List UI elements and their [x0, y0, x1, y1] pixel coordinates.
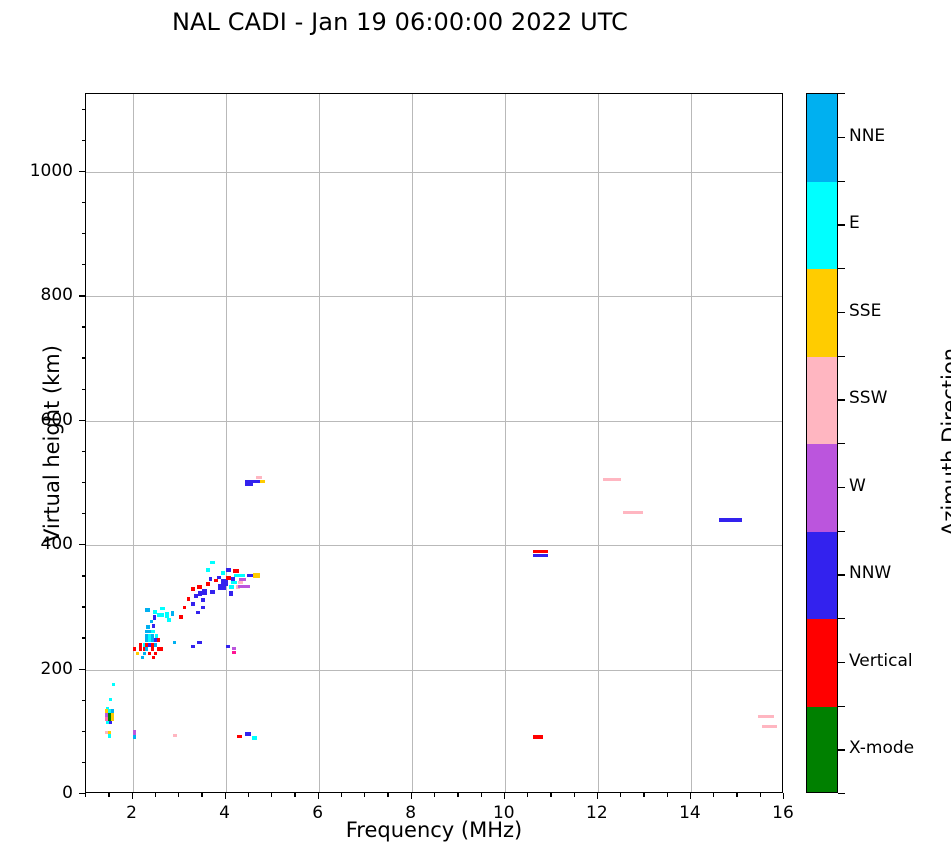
echo-mark [151, 630, 154, 634]
gridline-vertical [226, 94, 227, 792]
echo-mark [167, 618, 171, 622]
echo-mark [143, 652, 146, 656]
y-tick-label: 600 [13, 410, 73, 430]
echo-mark [150, 620, 153, 624]
x-tick-minor [457, 793, 458, 797]
echo-mark [233, 569, 239, 573]
colorbar-tick [838, 487, 845, 488]
echo-mark [157, 613, 164, 617]
y-tick-minor [82, 202, 86, 203]
echo-mark [253, 573, 260, 577]
x-tick-minor [201, 793, 202, 797]
x-tick-minor [620, 793, 621, 797]
echo-mark [260, 480, 265, 483]
gridline-vertical [412, 94, 413, 792]
gridline-horizontal [86, 670, 782, 671]
colorbar-title: Azimuth Direction [938, 282, 951, 602]
x-tick-minor [364, 793, 365, 797]
x-tick-label: 16 [753, 803, 813, 823]
gridline-vertical [319, 94, 320, 792]
y-tick-label: 1000 [13, 161, 73, 181]
x-tick-minor [271, 793, 272, 797]
x-tick-minor [481, 793, 482, 797]
x-tick-minor [736, 793, 737, 797]
echo-mark [238, 585, 250, 588]
colorbar-tick [838, 749, 845, 750]
echo-mark [209, 577, 212, 581]
colorbar-tick [838, 662, 845, 663]
y-tick-major [79, 171, 85, 172]
x-tick-minor [178, 793, 179, 797]
echo-mark [229, 585, 234, 589]
y-tick-label: 400 [13, 534, 73, 554]
echo-mark [109, 721, 112, 725]
y-tick-minor [82, 140, 86, 141]
echo-mark [152, 656, 155, 659]
echo-mark [231, 581, 237, 585]
colorbar-tick [838, 312, 845, 313]
y-tick-minor [82, 233, 86, 234]
echo-mark [202, 589, 208, 595]
plot-area[interactable] [85, 93, 783, 793]
y-tick-minor [82, 606, 86, 607]
echo-mark [533, 735, 543, 739]
colorbar-label-w: W [849, 476, 866, 496]
colorbar-label-vertical: Vertical [849, 651, 913, 671]
echo-mark [133, 647, 136, 651]
echo-mark [232, 647, 236, 650]
x-tick-major [132, 793, 133, 799]
figure-title: NAL CADI - Jan 19 06:00:00 2022 UTC [0, 8, 800, 36]
echo-mark [183, 606, 186, 609]
colorbar-boundary-tick [838, 181, 845, 182]
x-tick-minor [387, 793, 388, 797]
echo-mark [160, 607, 165, 611]
echo-mark [533, 550, 548, 553]
y-tick-major [79, 544, 85, 545]
y-tick-minor [82, 451, 86, 452]
y-tick-minor [82, 264, 86, 265]
echo-mark [108, 734, 111, 738]
y-tick-major [79, 420, 85, 421]
gridline-horizontal [86, 296, 782, 297]
colorbar-boundary-tick [838, 531, 845, 532]
y-tick-minor [82, 575, 86, 576]
echo-mark [201, 606, 205, 609]
echo-mark [245, 732, 251, 736]
x-tick-minor [550, 793, 551, 797]
echo-mark [226, 645, 230, 648]
colorbar-segment-nnw[interactable] [807, 532, 837, 620]
echo-mark [191, 587, 195, 591]
echo-mark [109, 698, 112, 702]
y-tick-minor [82, 731, 86, 732]
echo-mark [148, 652, 151, 656]
echo-mark [112, 683, 115, 686]
echo-mark [145, 608, 149, 612]
echo-mark [141, 656, 144, 659]
ionogram-figure: NAL CADI - Jan 19 06:00:00 2022 UTC Virt… [0, 0, 951, 856]
x-tick-minor [760, 793, 761, 797]
gridline-vertical [133, 94, 134, 792]
echo-mark [187, 597, 190, 601]
y-tick-minor [82, 109, 86, 110]
x-tick-label: 6 [288, 803, 348, 823]
colorbar-boundary-tick [838, 93, 845, 94]
echo-mark [256, 476, 263, 479]
echo-mark [253, 480, 260, 483]
x-tick-minor [248, 793, 249, 797]
echo-mark [179, 615, 183, 619]
x-tick-minor [155, 793, 156, 797]
x-tick-label: 4 [195, 803, 255, 823]
colorbar-boundary-tick [838, 618, 845, 619]
echo-mark [201, 598, 205, 602]
colorbar-tick [838, 399, 845, 400]
echo-mark [151, 634, 154, 638]
azimuth-colorbar[interactable] [806, 93, 838, 793]
echo-mark [155, 634, 158, 638]
y-tick-major [79, 295, 85, 296]
echo-mark [603, 478, 622, 481]
echo-mark [191, 602, 195, 606]
echo-mark [151, 647, 154, 651]
echo-mark [719, 518, 741, 522]
colorbar-label-x-mode: X-mode [849, 738, 914, 758]
y-tick-label: 200 [13, 659, 73, 679]
colorbar-label-nne: NNE [849, 126, 885, 146]
echo-mark [136, 652, 139, 656]
colorbar-boundary-tick [838, 268, 845, 269]
echo-mark [206, 568, 211, 571]
x-tick-major [690, 793, 691, 799]
x-tick-label: 2 [102, 803, 162, 823]
x-tick-minor [527, 793, 528, 797]
echo-mark [226, 568, 232, 572]
colorbar-segment-w[interactable] [807, 444, 837, 532]
echo-mark [239, 578, 246, 581]
x-tick-major [504, 793, 505, 799]
y-tick-minor [82, 762, 86, 763]
echo-mark [146, 625, 150, 629]
echo-mark [173, 641, 177, 644]
echo-mark [191, 645, 195, 648]
colorbar-boundary-tick [838, 443, 845, 444]
y-tick-minor [82, 357, 86, 358]
colorbar-segment-vertical[interactable] [807, 619, 837, 707]
x-tick-label: 14 [660, 803, 720, 823]
colorbar-segment-x-mode[interactable] [807, 707, 837, 794]
colorbar-boundary-tick [838, 356, 845, 357]
echo-mark [252, 736, 258, 740]
x-tick-major [225, 793, 226, 799]
echo-mark [238, 581, 242, 585]
colorbar-boundary-tick [838, 793, 845, 794]
gridline-horizontal [86, 421, 782, 422]
echo-mark [229, 591, 234, 596]
echo-mark [171, 611, 175, 615]
x-tick-minor [667, 793, 668, 797]
echo-mark [153, 615, 157, 620]
colorbar-label-nnw: NNW [849, 563, 891, 583]
echo-mark [234, 574, 245, 577]
echo-mark [758, 715, 774, 718]
x-tick-minor [574, 793, 575, 797]
echo-mark [210, 590, 214, 594]
colorbar-tick [838, 137, 845, 138]
echo-mark [206, 582, 211, 586]
colorbar-label-e: E [849, 213, 860, 233]
gridline-horizontal [86, 172, 782, 173]
x-tick-minor [85, 793, 86, 797]
echo-mark [533, 554, 548, 557]
x-tick-minor [643, 793, 644, 797]
y-axis-title: Virtual height (km) [40, 284, 64, 604]
echo-mark [762, 725, 777, 728]
y-tick-minor [82, 513, 86, 514]
colorbar-tick [838, 224, 845, 225]
x-tick-major [597, 793, 598, 799]
colorbar-segment-e[interactable] [807, 182, 837, 270]
colorbar-segment-nne[interactable] [807, 94, 837, 182]
colorbar-tick [838, 574, 845, 575]
x-tick-major [411, 793, 412, 799]
colorbar-segment-ssw[interactable] [807, 357, 837, 445]
x-tick-minor [341, 793, 342, 797]
echo-mark [197, 641, 201, 644]
echo-mark [152, 624, 155, 628]
echo-mark [154, 652, 157, 656]
y-tick-minor [82, 700, 86, 701]
gridline-horizontal [86, 545, 782, 546]
x-tick-minor [713, 793, 714, 797]
echo-mark [133, 735, 136, 739]
echo-mark [154, 643, 157, 647]
x-tick-major [318, 793, 319, 799]
x-tick-major [783, 793, 784, 799]
echo-mark [145, 647, 148, 651]
echo-mark [173, 734, 177, 737]
echo-mark [237, 735, 242, 738]
y-tick-minor [82, 389, 86, 390]
echo-mark [196, 611, 200, 614]
y-tick-label: 800 [13, 285, 73, 305]
y-tick-label: 0 [13, 783, 73, 803]
colorbar-label-ssw: SSW [849, 388, 887, 408]
gridline-vertical [505, 94, 506, 792]
x-tick-label: 8 [381, 803, 441, 823]
x-tick-label: 12 [567, 803, 627, 823]
x-tick-minor [108, 793, 109, 797]
echo-mark [232, 651, 236, 654]
echo-mark [623, 511, 643, 514]
echo-mark [160, 647, 163, 651]
gridline-vertical [691, 94, 692, 792]
y-tick-minor [82, 637, 86, 638]
colorbar-segment-sse[interactable] [807, 269, 837, 357]
colorbar-boundary-tick [838, 706, 845, 707]
gridline-vertical [598, 94, 599, 792]
echo-mark [245, 480, 252, 486]
y-tick-minor [82, 326, 86, 327]
colorbar-label-sse: SSE [849, 301, 881, 321]
echo-mark [210, 561, 216, 564]
echo-mark [218, 584, 225, 590]
x-tick-label: 10 [474, 803, 534, 823]
y-tick-minor [82, 482, 86, 483]
x-tick-minor [434, 793, 435, 797]
y-tick-major [79, 669, 85, 670]
echo-mark [157, 638, 160, 642]
x-tick-minor [294, 793, 295, 797]
